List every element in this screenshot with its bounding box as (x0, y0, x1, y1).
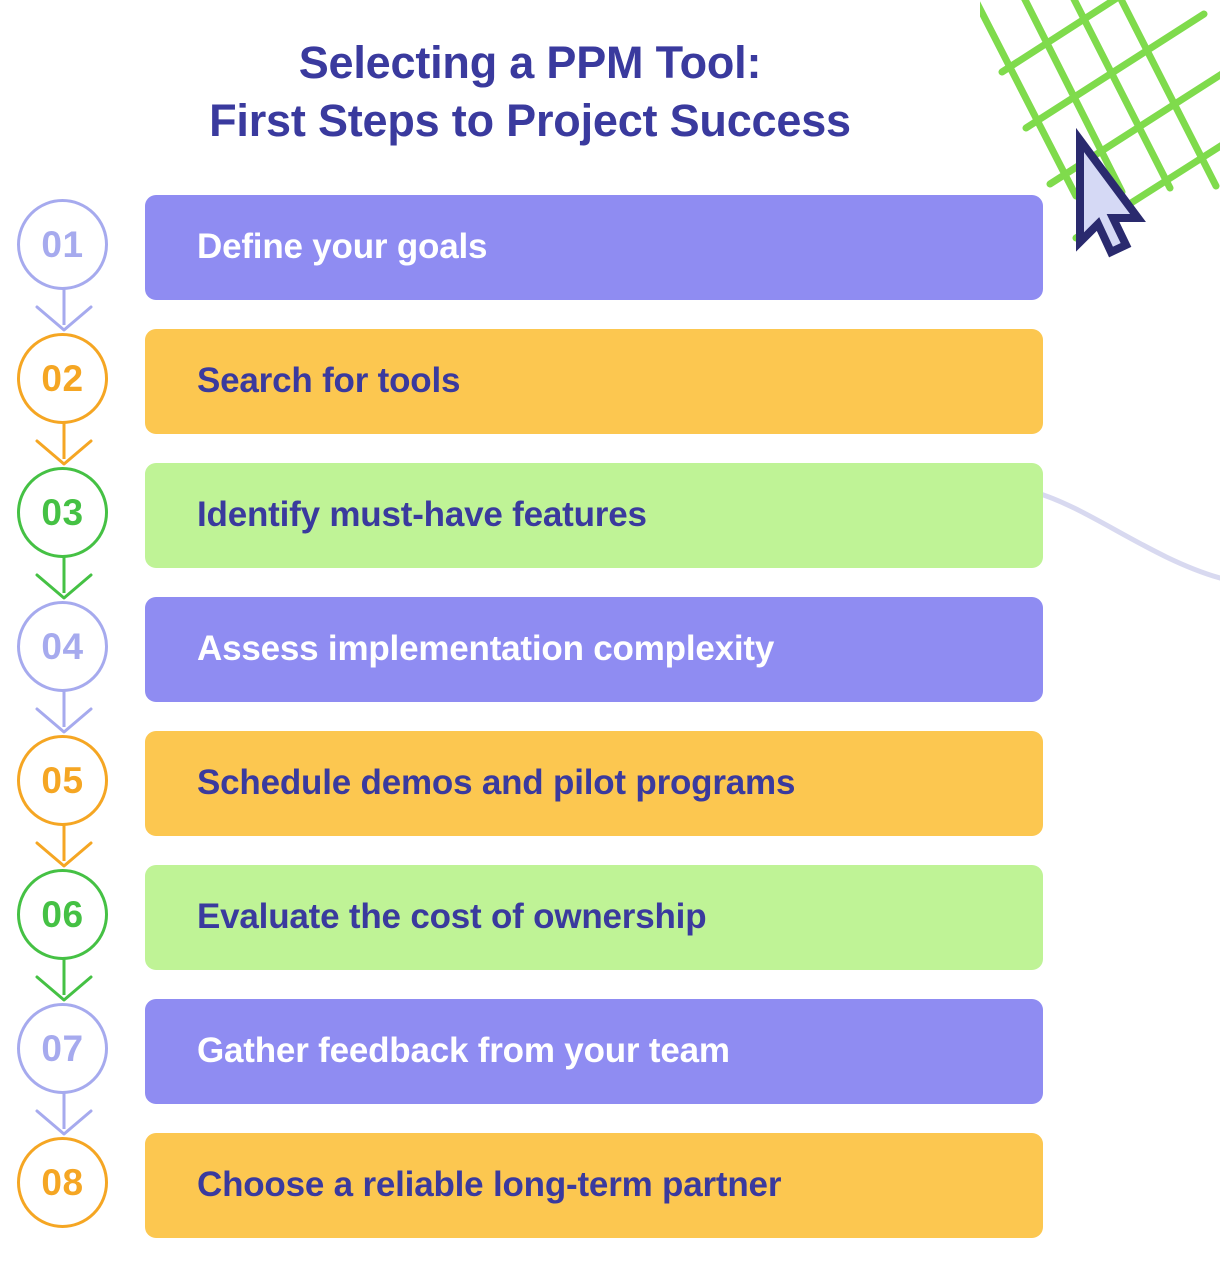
title-line-2: First Steps to Project Success (0, 92, 1060, 150)
step-bar[interactable]: Identify must-have features (145, 463, 1043, 568)
step-bar[interactable]: Evaluate the cost of ownership (145, 865, 1043, 970)
step-number-label: 01 (41, 226, 83, 263)
step-number-circle: 01 (17, 199, 108, 290)
step-row[interactable]: 06 Evaluate the cost of ownership (0, 865, 1220, 970)
down-arrow-icon (17, 553, 114, 601)
step-bar[interactable]: Gather feedback from your team (145, 999, 1043, 1104)
step-number-circle: 08 (17, 1137, 108, 1228)
step-label: Schedule demos and pilot programs (197, 764, 795, 803)
down-arrow-icon (17, 419, 114, 467)
step-number-label: 02 (41, 360, 83, 397)
step-row[interactable]: 02 Search for tools (0, 329, 1220, 434)
step-number-group: 05 (17, 735, 114, 832)
title-line-1: Selecting a PPM Tool: (0, 34, 1060, 92)
step-row[interactable]: 08 Choose a reliable long-term partner (0, 1133, 1220, 1238)
step-row[interactable]: 04 Assess implementation complexity (0, 597, 1220, 702)
step-row[interactable]: 05 Schedule demos and pilot programs (0, 731, 1220, 836)
step-number-group: 01 (17, 199, 114, 296)
step-label: Identify must-have features (197, 496, 647, 535)
step-number-label: 03 (41, 494, 83, 531)
step-row[interactable]: 03 Identify must-have features (0, 463, 1220, 568)
step-label: Define your goals (197, 228, 487, 267)
step-number-group: 04 (17, 601, 114, 698)
step-bar[interactable]: Assess implementation complexity (145, 597, 1043, 702)
step-number-label: 07 (41, 1030, 83, 1067)
step-label: Evaluate the cost of ownership (197, 898, 706, 937)
step-number-circle: 02 (17, 333, 108, 424)
step-bar[interactable]: Schedule demos and pilot programs (145, 731, 1043, 836)
step-number-label: 06 (41, 896, 83, 933)
step-number-label: 05 (41, 762, 83, 799)
step-number-label: 04 (41, 628, 83, 665)
step-label: Choose a reliable long-term partner (197, 1166, 781, 1205)
down-arrow-icon (17, 821, 114, 869)
steps-list: 01 Define your goals 02 (0, 195, 1220, 1238)
step-bar[interactable]: Choose a reliable long-term partner (145, 1133, 1043, 1238)
step-number-circle: 05 (17, 735, 108, 826)
step-bar[interactable]: Define your goals (145, 195, 1043, 300)
step-label: Gather feedback from your team (197, 1032, 730, 1071)
step-number-group: 06 (17, 869, 114, 966)
down-arrow-icon (17, 285, 114, 333)
down-arrow-icon (17, 1089, 114, 1137)
step-label: Assess implementation complexity (197, 630, 774, 669)
step-number-group: 03 (17, 467, 114, 564)
step-number-circle: 04 (17, 601, 108, 692)
step-bar[interactable]: Search for tools (145, 329, 1043, 434)
down-arrow-icon (17, 955, 114, 1003)
step-number-circle: 03 (17, 467, 108, 558)
step-row[interactable]: 07 Gather feedback from your team (0, 999, 1220, 1104)
infographic-canvas: Selecting a PPM Tool: First Steps to Pro… (0, 0, 1220, 1277)
step-number-circle: 07 (17, 1003, 108, 1094)
down-arrow-icon (17, 687, 114, 735)
step-number-circle: 06 (17, 869, 108, 960)
step-row[interactable]: 01 Define your goals (0, 195, 1220, 300)
step-number-label: 08 (41, 1164, 83, 1201)
page-title: Selecting a PPM Tool: First Steps to Pro… (0, 34, 1060, 149)
step-number-group: 02 (17, 333, 114, 430)
step-label: Search for tools (197, 362, 460, 401)
step-number-group: 08 (17, 1137, 114, 1234)
step-number-group: 07 (17, 1003, 114, 1100)
